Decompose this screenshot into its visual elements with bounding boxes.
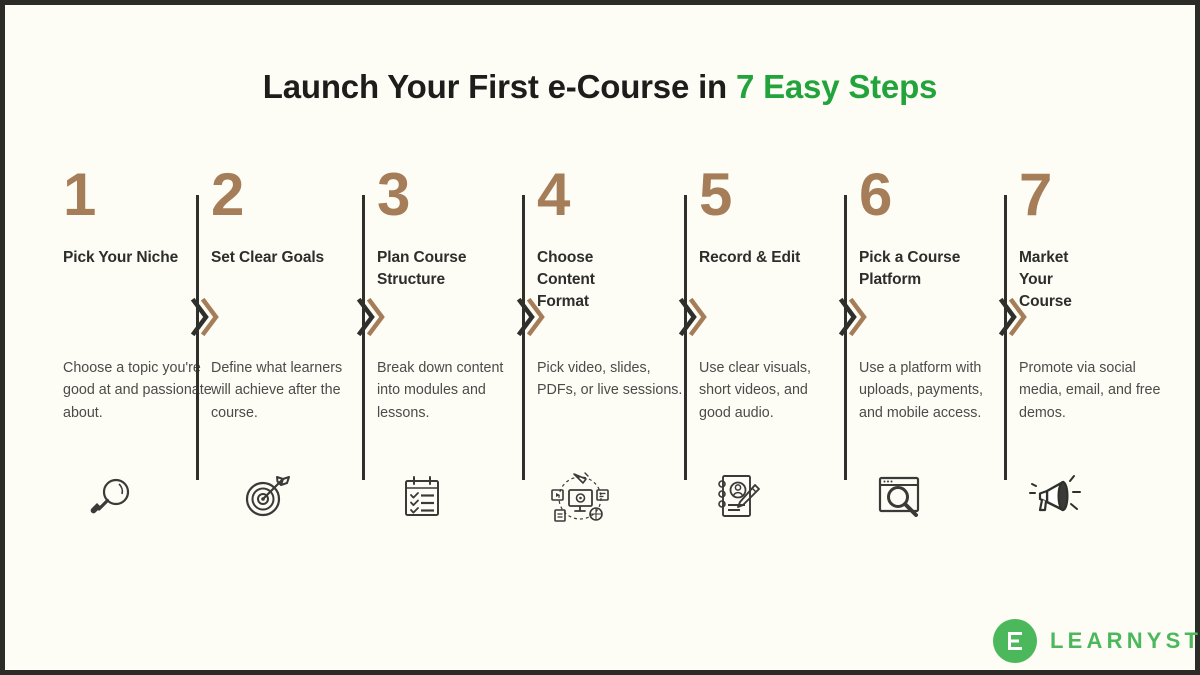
step-number: 6 xyxy=(859,165,1009,235)
step-heading: Pick Your Niche xyxy=(63,247,213,269)
step-divider-6 xyxy=(1004,195,1007,480)
step-heading: Pick a Course Platform xyxy=(859,247,1019,291)
step-heading: Plan Course Structure xyxy=(377,247,537,291)
step-description: Promote via social media, email, and fre… xyxy=(1019,357,1169,424)
step-divider-1 xyxy=(196,195,199,480)
step-heading: Record & Edit xyxy=(699,247,809,269)
step-description: Break down content into modules and less… xyxy=(377,357,527,424)
step-description: Use clear visuals, short videos, and goo… xyxy=(699,357,839,424)
step-number: 2 xyxy=(211,165,361,235)
step-divider-4 xyxy=(684,195,687,480)
step-number: 7 xyxy=(1019,165,1169,235)
step-description: Define what learners will achieve after … xyxy=(211,357,361,424)
step-description: Use a platform with uploads, payments, a… xyxy=(859,357,1009,424)
browser-search-icon xyxy=(875,468,1025,526)
step-divider-2 xyxy=(362,195,365,480)
step-description: Choose a topic you're good at and passio… xyxy=(63,357,213,424)
step-6: 6 Pick a Course Platform Use a platform … xyxy=(859,165,1009,465)
step-divider-3 xyxy=(522,195,525,480)
step-number: 5 xyxy=(699,165,849,235)
steps-container: 1 Pick Your Niche Choose a topic you're … xyxy=(53,165,1153,465)
step-2: 2 Set Clear Goals Define what learners w… xyxy=(211,165,361,465)
checklist-clipboard-icon xyxy=(399,468,549,526)
megaphone-icon xyxy=(1029,468,1179,526)
infographic-canvas: Launch Your First e-Course in 7 Easy Ste… xyxy=(0,0,1200,675)
step-divider-5 xyxy=(844,195,847,480)
step-number: 4 xyxy=(537,165,687,235)
magnifying-glass-icon xyxy=(85,468,235,526)
target-arrow-icon xyxy=(239,468,389,526)
step-description: Pick video, slides, PDFs, or live sessio… xyxy=(537,357,689,402)
step-number: 3 xyxy=(377,165,527,235)
learnyst-logo: LEARNYST xyxy=(993,619,1200,663)
step-heading: Market Your Course xyxy=(1019,247,1095,313)
step-heading: Choose Content Format xyxy=(537,247,625,313)
step-1: 1 Pick Your Niche Choose a topic you're … xyxy=(63,165,213,465)
document-edit-icon xyxy=(713,468,863,526)
step-number: 1 xyxy=(63,165,213,235)
learnyst-wordmark: LEARNYST xyxy=(1050,628,1200,654)
page-title-main: Launch Your First e-Course in xyxy=(263,68,736,105)
learnyst-logo-mark-icon xyxy=(993,619,1037,663)
step-4: 4 Choose Content Format Pick video, slid… xyxy=(537,165,687,465)
page-title: Launch Your First e-Course in 7 Easy Ste… xyxy=(5,68,1195,106)
step-5: 5 Record & Edit Use clear visuals, short… xyxy=(699,165,849,465)
step-7: 7 Market Your Course Promote via social … xyxy=(1019,165,1169,465)
step-icons-row xyxy=(53,468,1153,526)
content-formats-icon xyxy=(551,468,701,526)
step-3: 3 Plan Course Structure Break down conte… xyxy=(377,165,527,465)
step-heading: Set Clear Goals xyxy=(211,247,361,269)
page-title-accent: 7 Easy Steps xyxy=(736,68,937,105)
